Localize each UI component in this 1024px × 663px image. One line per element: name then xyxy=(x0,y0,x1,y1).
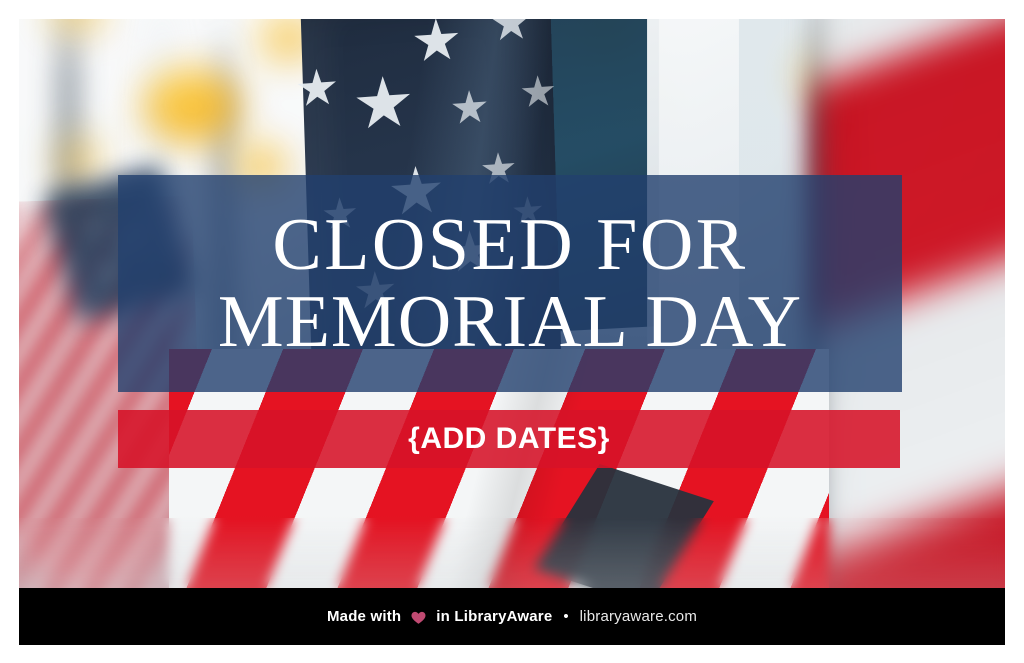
dates-placeholder-text[interactable]: {ADD DATES} xyxy=(408,422,610,456)
heart-icon xyxy=(410,609,427,626)
headline-line-2: MEMORIAL DAY xyxy=(218,284,802,361)
flyer-page: CLOSED FOR MEMORIAL DAY {ADD DATES} Made… xyxy=(0,0,1024,663)
footer-bar: Made with in LibraryAware • libraryaware… xyxy=(19,588,1005,645)
dates-band[interactable]: {ADD DATES} xyxy=(118,410,900,468)
footer-brand-label: in LibraryAware xyxy=(436,608,552,625)
footer-website-url[interactable]: libraryaware.com xyxy=(580,608,697,625)
headline-line-1: CLOSED FOR xyxy=(272,207,747,284)
photo-bottom-blur xyxy=(19,518,1005,588)
footer-made-with-label: Made with xyxy=(327,608,401,625)
footer-separator-dot: • xyxy=(561,609,570,624)
headline-band: CLOSED FOR MEMORIAL DAY xyxy=(118,175,902,392)
